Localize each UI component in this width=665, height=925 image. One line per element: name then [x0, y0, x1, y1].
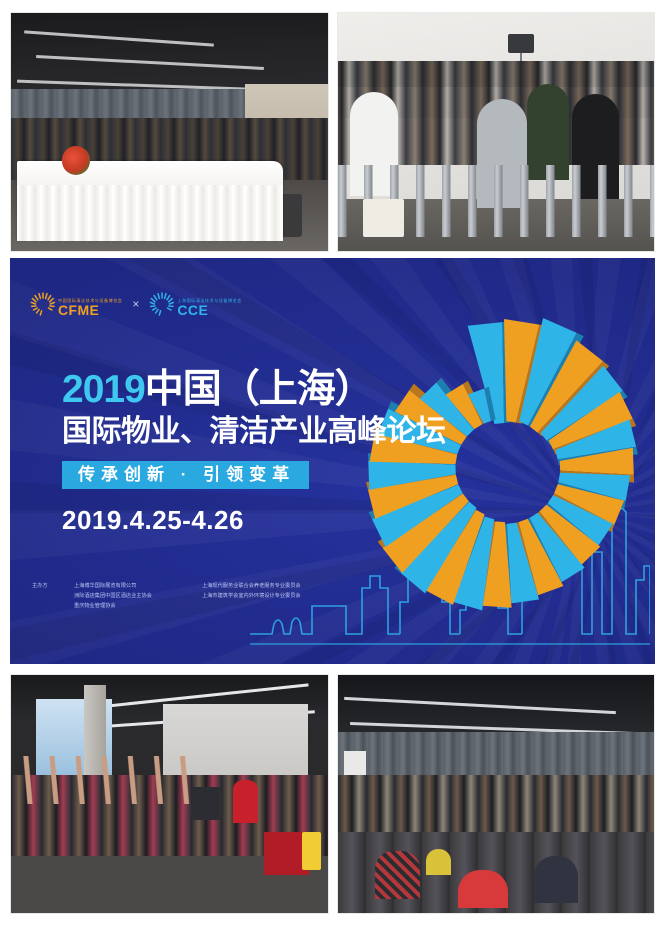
event-location: 中国（上海） [145, 368, 373, 411]
photo-row-bottom [10, 674, 655, 914]
event-date: 2019.4.25-4.26 [62, 507, 462, 533]
event-year: 2019 [62, 368, 145, 411]
event-poster: 中国国际清洁技术与设备博览会 CFME × [10, 258, 655, 664]
organizers-column-2: 上海现代服务业联合会养老服务专业委员会 上海市建筑学会室内外环境设计专业委员会 [202, 581, 377, 611]
photo-raised-hands [10, 674, 329, 914]
cfme-logo[interactable]: 中国国际清洁技术与设备博览会 CFME [30, 291, 122, 317]
photo-panel-head-table [10, 12, 329, 252]
photo-seated-audience [337, 12, 656, 252]
organizers-label: 主办方 [32, 581, 64, 611]
headline-line-2: 国际物业、清洁产业高峰论坛 [62, 417, 462, 447]
organizer-item: 上海博华国际展览有限公司 [74, 581, 192, 591]
headline-block: 2019中国（上海） 国际物业、清洁产业高峰论坛 传承创新 · 引领变革 201… [62, 370, 462, 533]
photo-row-top [10, 12, 655, 252]
cfme-logo-en: CFME [58, 303, 122, 317]
event-slogan: 传承创新 · 引领变革 [62, 461, 309, 489]
organizers-block: 主办方 上海博华国际展览有限公司 洲际酒店集团中国区酒店业主协会 重庆物业管理协… [32, 581, 377, 611]
cfme-mark-icon [30, 291, 56, 317]
organizer-item: 重庆物业管理协会 [74, 601, 192, 611]
logo-lockup: 中国国际清洁技术与设备博览会 CFME × [30, 291, 242, 317]
photo-main-hall [337, 674, 656, 914]
cross-icon: × [132, 297, 139, 311]
poster-page: 中国国际清洁技术与设备博览会 CFME × [0, 0, 665, 925]
cce-logo[interactable]: 上海国际清洁技术与设备博览会 CCE [149, 291, 241, 317]
organizer-item: 洲际酒店集团中国区酒店业主协会 [74, 591, 192, 601]
organizers-column-1: 上海博华国际展览有限公司 洲际酒店集团中国区酒店业主协会 重庆物业管理协会 [74, 581, 192, 611]
organizer-item: 上海现代服务业联合会养老服务专业委员会 [202, 581, 377, 591]
cce-mark-icon [149, 291, 175, 317]
organizer-item: 上海市建筑学会室内外环境设计专业委员会 [202, 591, 377, 601]
headline-line-1: 2019中国（上海） [62, 370, 462, 409]
cce-logo-en: CCE [177, 303, 241, 317]
